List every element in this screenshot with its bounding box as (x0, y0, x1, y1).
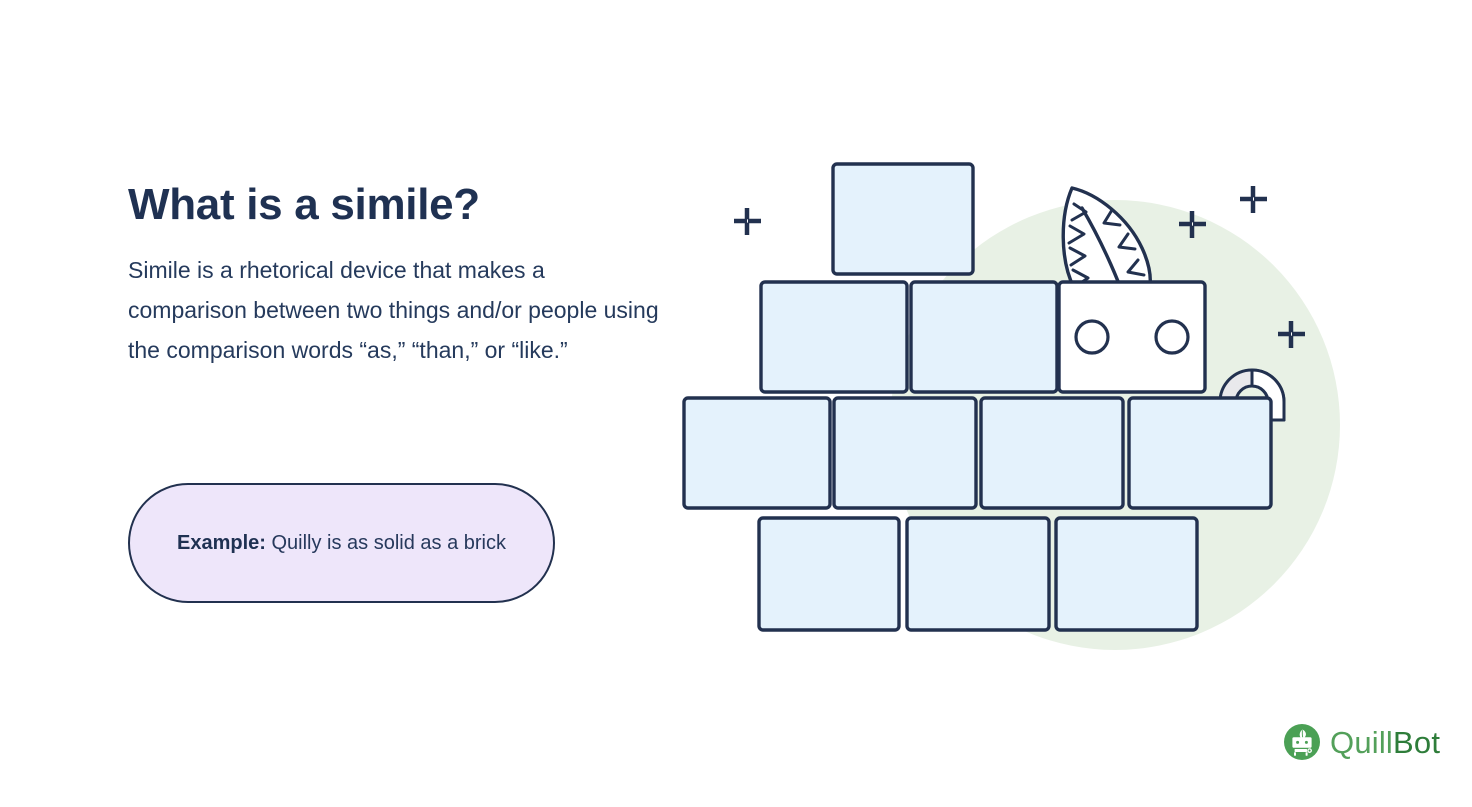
robot-eye-icon (1076, 321, 1108, 353)
quillbot-robot-icon (1283, 723, 1321, 761)
slide-canvas: What is a simile? Simile is a rhetorical… (0, 0, 1472, 807)
brick (684, 398, 830, 508)
brick (1056, 518, 1197, 630)
brick (1129, 398, 1271, 508)
robot-head-brick (1059, 282, 1205, 392)
brick (981, 398, 1123, 508)
illustration-brick-wall (650, 90, 1410, 670)
brick-row-3 (684, 398, 1271, 508)
example-label: Example: (177, 532, 266, 554)
brick-row-4 (759, 518, 1197, 630)
example-callout-pill: Example: Quilly is as solid as a brick (128, 483, 555, 603)
brick (911, 282, 1057, 392)
quillbot-logo[interactable]: QuillBot (1283, 723, 1440, 761)
brick-row-2 (761, 282, 1205, 392)
example-callout-text: Example: Quilly is as solid as a brick (177, 528, 506, 559)
example-sentence: Quilly is as solid as a brick (266, 532, 506, 554)
brick (833, 164, 973, 274)
brick (761, 282, 907, 392)
page-body-text: Simile is a rhetorical device that makes… (128, 251, 668, 370)
brick (834, 398, 976, 508)
page-title: What is a simile? (128, 180, 688, 229)
robot-eye-icon (1156, 321, 1188, 353)
logo-word-bot: Bot (1393, 725, 1440, 760)
text-column: What is a simile? Simile is a rhetorical… (128, 180, 688, 371)
brick (759, 518, 899, 630)
logo-word-quill: Quill (1330, 725, 1393, 760)
brick-row-1 (833, 164, 973, 274)
brick (907, 518, 1049, 630)
quillbot-wordmark: QuillBot (1330, 727, 1440, 758)
